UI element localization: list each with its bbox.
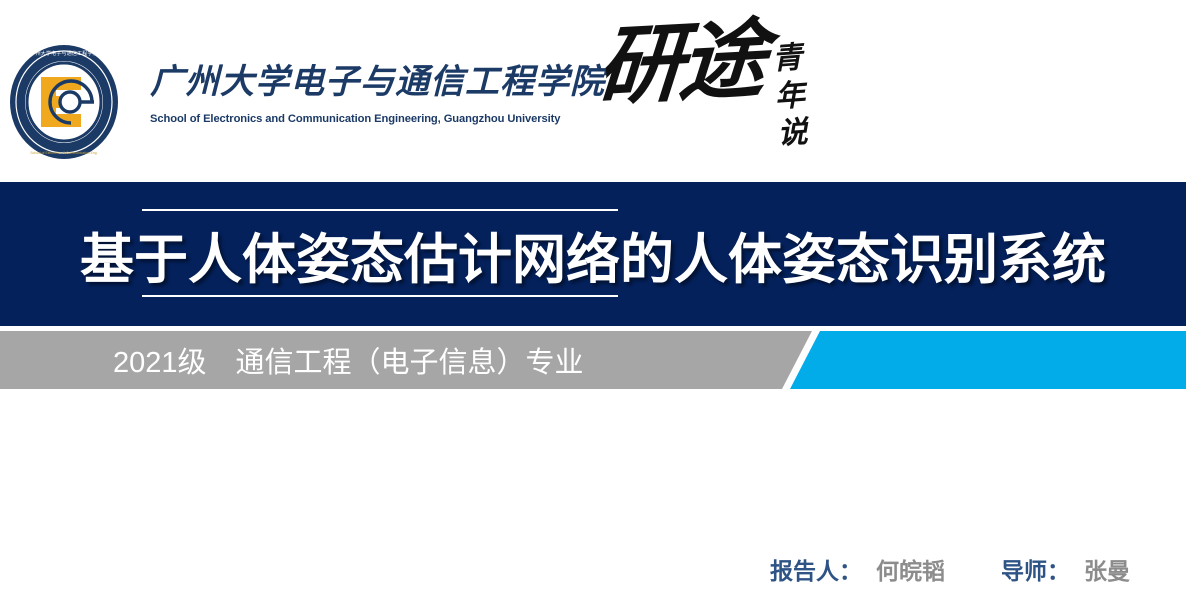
presenter-name: 何皖韬: [876, 552, 945, 586]
calligraphy-side-char-2: 年: [771, 76, 810, 116]
advisor-name: 张曼: [1084, 552, 1130, 586]
calligraphy-mark: 研途 青 年 说: [600, 22, 830, 172]
university-name-en: School of Electronics and Communication …: [150, 113, 580, 125]
calligraphy-side-char-3: 说: [773, 114, 812, 154]
title-banner: 基于人体姿态估计网络的人体姿态识别系统: [0, 182, 1186, 326]
university-name-block: 广州大学电子与通信工程学院 School of Electronics and …: [150, 62, 580, 125]
header-bar: 广州大学电子与通信工程学院 School of Electronics & Co…: [0, 0, 1186, 182]
svg-text:广州大学电子与通信工程学院: 广州大学电子与通信工程学院: [30, 49, 98, 57]
calligraphy-side-text: 青 年 说: [768, 39, 812, 154]
presenter-label: 报告人：: [770, 552, 862, 586]
svg-text:School of Electronics & Commun: School of Electronics & Communication En…: [30, 151, 97, 155]
calligraphy-main-text: 研途: [594, 19, 765, 109]
advisor-label: 导师：: [1001, 552, 1070, 586]
university-logo-icon: 广州大学电子与通信工程学院 School of Electronics & Co…: [8, 43, 120, 161]
page-title: 基于人体姿态估计网络的人体姿态识别系统: [0, 182, 1186, 326]
credits-block: 报告人： 何皖韬 导师： 张曼: [770, 552, 1130, 586]
calligraphy-side-char-1: 青: [768, 39, 807, 79]
subtitle-bar: 2021级 通信工程（电子信息）专业: [0, 331, 1186, 389]
subtitle-text: 2021级 通信工程（电子信息）专业: [113, 331, 584, 389]
university-name-cn: 广州大学电子与通信工程学院: [150, 62, 580, 105]
